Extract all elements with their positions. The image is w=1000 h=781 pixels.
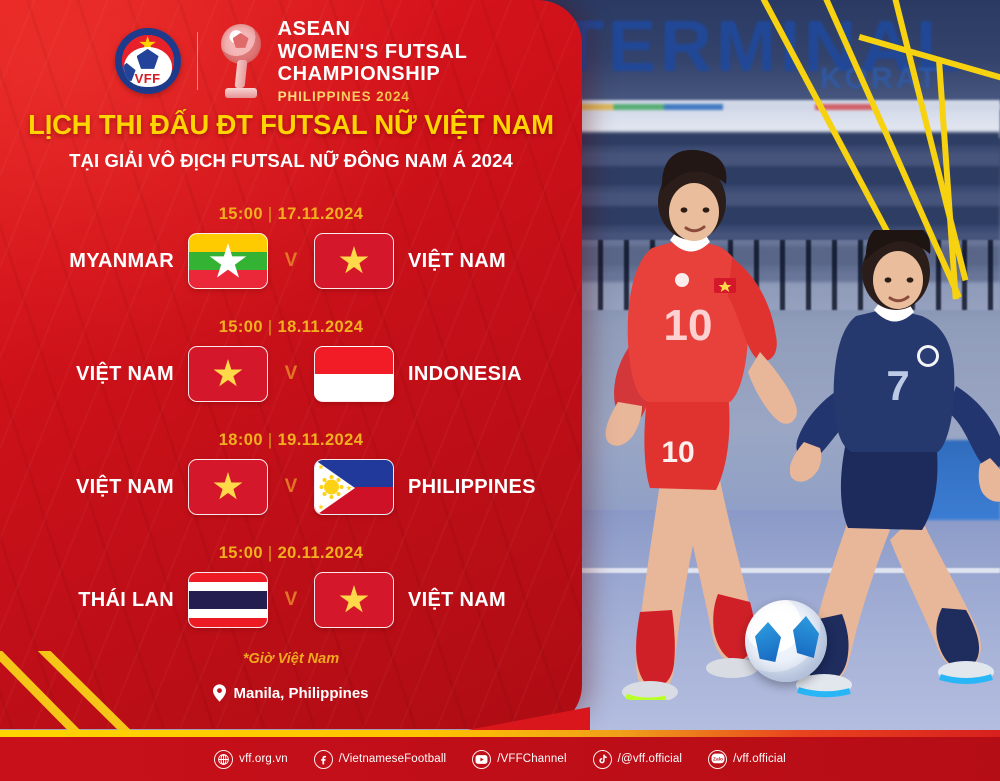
time-date-separator: | — [268, 318, 273, 336]
trophy-icon — [214, 22, 268, 100]
versus-separator: V — [268, 476, 314, 498]
tiktok-icon — [593, 750, 612, 769]
page-subtitle: TẠI GIẢI VÔ ĐỊCH FUTSAL NỮ ĐÔNG NAM Á 20… — [0, 150, 582, 172]
match-datetime: 15:00|20.11.2024 — [0, 537, 582, 563]
match-datetime: 15:00|17.11.2024 — [0, 198, 582, 224]
time-date-separator: | — [268, 544, 273, 562]
thailand-flag — [188, 572, 268, 628]
away-team-name: VIỆT NAM — [394, 589, 544, 612]
vff-logo-text: VFF — [135, 71, 161, 86]
match-row[interactable]: 15:00|17.11.2024 MYANMAR V VIỆT NAM — [0, 198, 582, 311]
match-row[interactable]: 15:00|18.11.2024 VIỆT NAM V INDONESIA — [0, 311, 582, 424]
vietnam-flag — [314, 233, 394, 289]
footer-link-youtube[interactable]: /VFFChannel — [472, 750, 566, 769]
home-team-name: THÁI LAN — [38, 589, 188, 612]
match-date: 20.11.2024 — [278, 544, 364, 562]
footer-link-facebook[interactable]: /VietnameseFootball — [314, 750, 446, 769]
schedule-panel: VFF ASEAN WOMEN'S FUTSAL CHAMPIONSHIP PH… — [0, 0, 582, 729]
footer-link-zalo[interactable]: Zalo /vff.official — [708, 750, 786, 769]
logo-divider — [197, 32, 198, 90]
youtube-icon — [472, 750, 491, 769]
match-time: 15:00 — [219, 205, 263, 223]
vietnam-flag — [188, 459, 268, 515]
svg-text:Zalo: Zalo — [713, 757, 723, 763]
home-team-name: VIỆT NAM — [38, 476, 188, 499]
footer-link-label: /VietnameseFootball — [339, 753, 446, 765]
vietnam-flag — [314, 572, 394, 628]
away-team-name: INDONESIA — [394, 363, 544, 386]
myanmar-flag — [188, 233, 268, 289]
footer-link-label: vff.org.vn — [239, 753, 288, 765]
futsal-schedule-poster: TERMINAL 21 KORAT — [0, 0, 1000, 781]
event-title-line-4: PHILIPPINES 2024 — [278, 89, 468, 104]
match-date: 19.11.2024 — [278, 431, 364, 449]
match-date: 18.11.2024 — [278, 318, 364, 336]
match-row[interactable]: 18:00|19.11.2024 VIỆT NAM V PHILIPPINES — [0, 424, 582, 537]
accent-line — [0, 730, 1000, 737]
zalo-icon: Zalo — [708, 750, 727, 769]
svg-text:7: 7 — [886, 362, 909, 409]
match-datetime: 18:00|19.11.2024 — [0, 424, 582, 450]
match-datetime: 15:00|18.11.2024 — [0, 311, 582, 337]
away-team-name: VIỆT NAM — [394, 250, 544, 273]
event-title-line-3: CHAMPIONSHIP — [278, 63, 468, 86]
svg-text:10: 10 — [664, 301, 713, 350]
match-list: 15:00|17.11.2024 MYANMAR V VIỆT NAM 15:0… — [0, 198, 582, 650]
match-time: 18:00 — [219, 431, 263, 449]
event-title-line-2: WOMEN'S FUTSAL — [278, 41, 468, 64]
time-date-separator: | — [268, 431, 273, 449]
futsal-ball — [745, 600, 827, 682]
indonesia-flag — [314, 346, 394, 402]
page-title: LỊCH THI ĐẤU ĐT FUTSAL NỮ VIỆT NAM — [0, 109, 582, 141]
home-team-name: VIỆT NAM — [38, 363, 188, 386]
versus-separator: V — [268, 589, 314, 611]
vff-logo: VFF — [115, 28, 181, 94]
philippines-flag — [314, 459, 394, 515]
logo-row: VFF ASEAN WOMEN'S FUTSAL CHAMPIONSHIP PH… — [0, 18, 582, 104]
match-time: 15:00 — [219, 318, 263, 336]
vietnam-flag — [188, 346, 268, 402]
footer-link-website[interactable]: vff.org.vn — [214, 750, 288, 769]
footer-link-label: /@vff.official — [618, 753, 683, 765]
footer-link-label: /VFFChannel — [497, 753, 566, 765]
versus-separator: V — [268, 363, 314, 385]
website-globe-icon — [214, 750, 233, 769]
svg-text:10: 10 — [661, 436, 694, 469]
facebook-icon — [314, 750, 333, 769]
time-date-separator: | — [268, 205, 273, 223]
event-logo-text: ASEAN WOMEN'S FUTSAL CHAMPIONSHIP PHILIP… — [278, 18, 468, 104]
event-title-line-1: ASEAN — [278, 18, 468, 41]
away-team-name: PHILIPPINES — [394, 476, 544, 499]
match-row[interactable]: 15:00|20.11.2024 THÁI LAN V VIỆT NAM — [0, 537, 582, 650]
versus-separator: V — [268, 250, 314, 272]
footer-bar: vff.org.vn /VietnameseFootball /VFFChann… — [0, 737, 1000, 781]
footer-link-label: /vff.official — [733, 753, 786, 765]
match-date: 17.11.2024 — [278, 205, 364, 223]
footer-link-tiktok[interactable]: /@vff.official — [593, 750, 683, 769]
home-team-name: MYANMAR — [38, 250, 188, 273]
match-time: 15:00 — [219, 544, 263, 562]
